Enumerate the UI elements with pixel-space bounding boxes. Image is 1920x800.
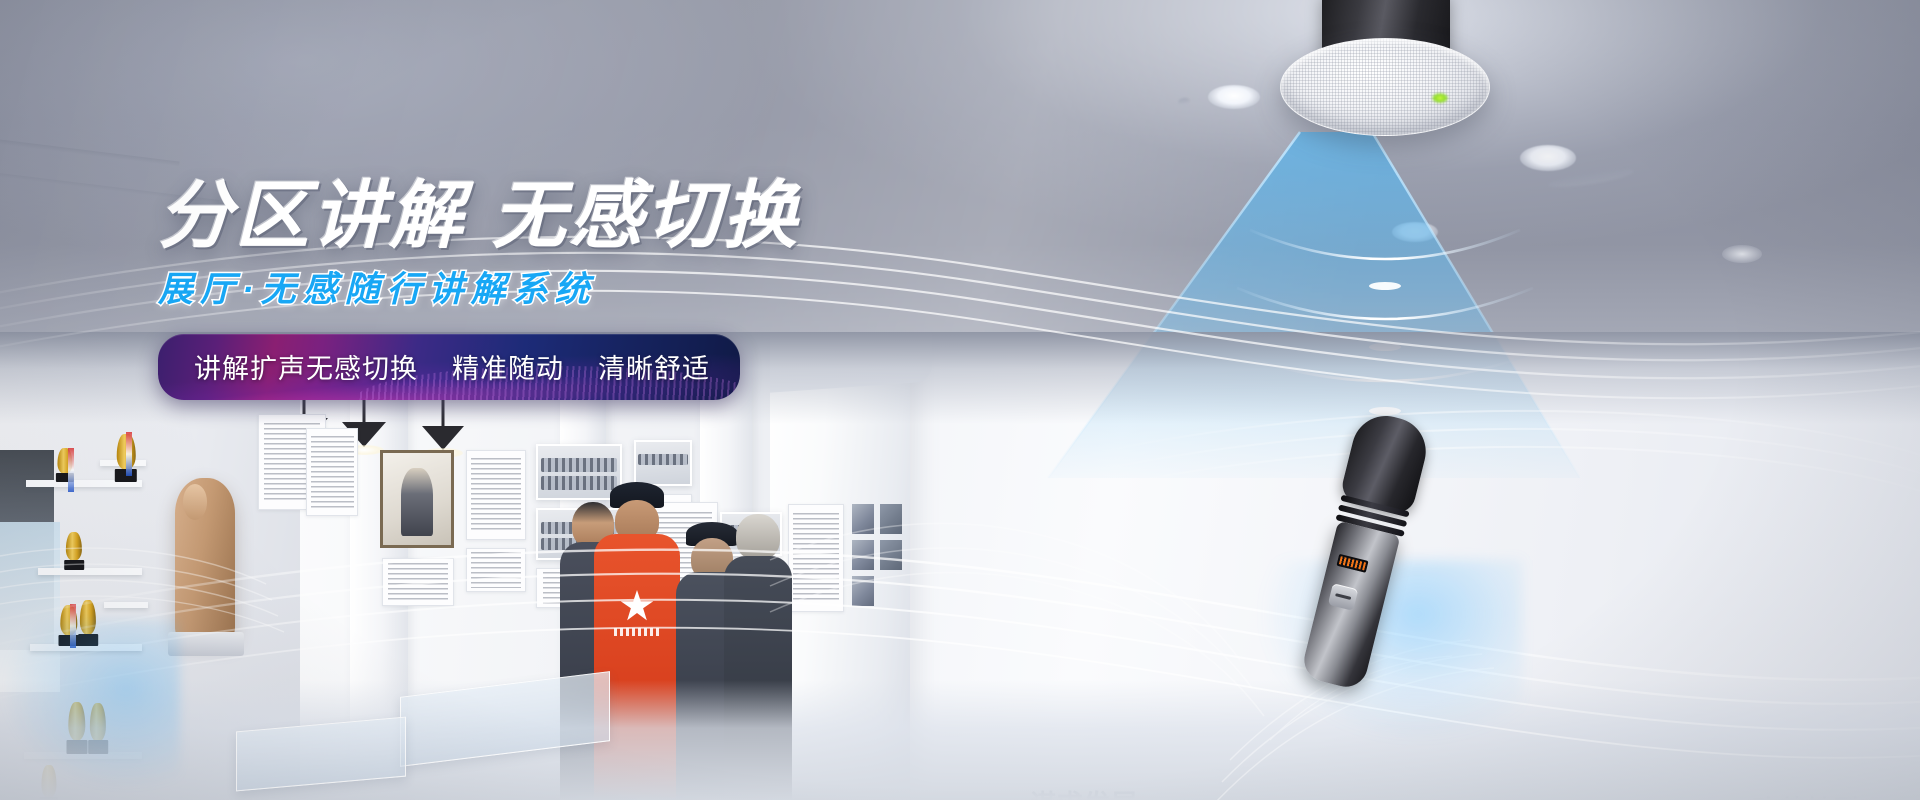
banner-stage: 谋求发展1952-1984 改革转型1984-2010 (0, 0, 1920, 800)
trophy-ribbon (126, 432, 132, 476)
trophy-icon (52, 440, 78, 482)
exhibit-portrait-thumb (852, 576, 874, 606)
ceiling-speaker-icon (1280, 0, 1490, 150)
feature-pill-text: 讲解扩声无感切换精准随动清晰舒适 (194, 354, 710, 384)
exhibit-text-panel (382, 558, 454, 606)
trophy-icon (74, 590, 102, 646)
trophy-icon (60, 524, 88, 570)
exhibit-portrait-thumb (852, 540, 874, 570)
exhibit-text-panel (306, 428, 358, 516)
feature-pill-badge: 讲解扩声无感切换精准随动清晰舒适 (158, 334, 740, 400)
headline-part-1: 分区讲解 (158, 174, 466, 257)
trophy-shelf (104, 602, 148, 608)
exhibit-portrait (380, 450, 454, 548)
headline-part-2: 无感切换 (492, 174, 800, 257)
banner-copy: 分区讲解无感切换 展厅·无感随行讲解系统 讲解扩声无感切换精准随动清晰舒适 (158, 178, 800, 405)
page-title: 分区讲解无感切换 (158, 178, 800, 253)
trophy-ribbon (68, 448, 74, 492)
exhibit-group-photo (634, 440, 692, 486)
exhibit-statue (175, 478, 235, 638)
exhibit-text-panel (466, 450, 526, 540)
exhibit-statue-base (168, 632, 244, 656)
feature-item-1: 讲解扩声无感切换 (194, 354, 418, 384)
hall-glass-panel (0, 522, 60, 692)
exhibit-portrait-thumb (880, 540, 902, 570)
page-subtitle: 展厅·无感随行讲解系统 (158, 261, 800, 312)
speaker-status-led (1432, 93, 1448, 103)
trophy-shelf (38, 568, 142, 575)
feature-item-2: 精准随动 (452, 354, 564, 384)
exhibit-portrait-thumb (852, 504, 874, 534)
exhibit-text-panel (466, 548, 526, 592)
exhibit-portrait-thumb (880, 504, 902, 534)
feature-item-3: 清晰舒适 (598, 354, 710, 384)
ceiling-downlight-icon (1208, 85, 1260, 109)
ceiling-downlight-icon (1722, 245, 1762, 263)
speaker-grille (1280, 38, 1490, 136)
trophy-ribbon (70, 604, 76, 648)
exhibit-text-panel (788, 504, 844, 612)
